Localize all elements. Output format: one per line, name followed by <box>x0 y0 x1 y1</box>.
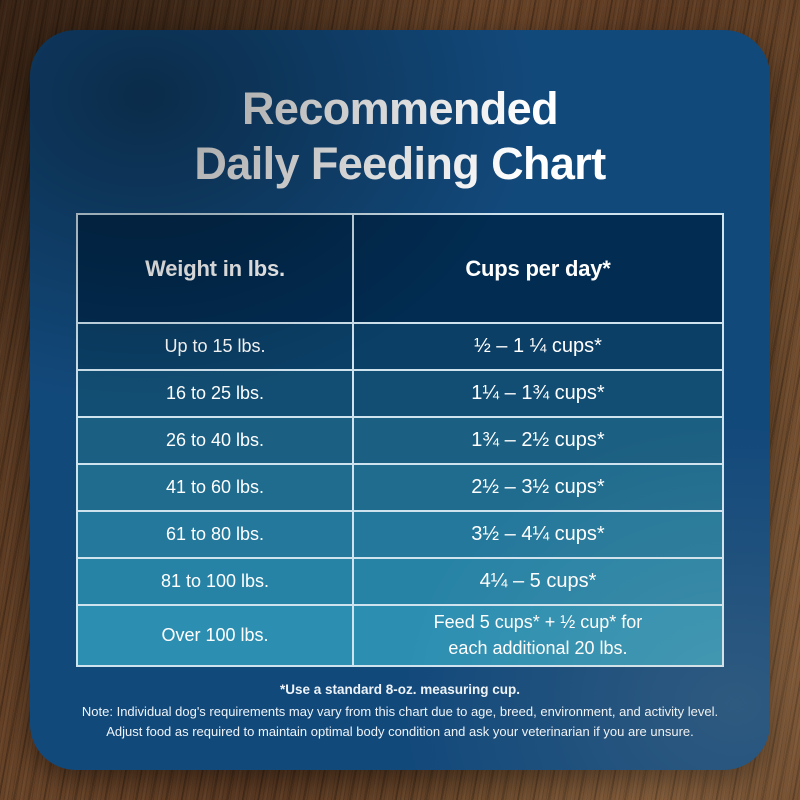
table-row: Over 100 lbs. Feed 5 cups* + ½ cup* for … <box>78 604 722 665</box>
cell-weight: 81 to 100 lbs. <box>78 559 354 604</box>
footnote-note-line-1: Note: Individual dog's requirements may … <box>30 702 770 722</box>
cell-cups: 1¼ – 1¾ cups* <box>354 371 722 416</box>
cell-weight: 41 to 60 lbs. <box>78 465 354 510</box>
cell-weight: 16 to 25 lbs. <box>78 371 354 416</box>
cell-weight: 61 to 80 lbs. <box>78 512 354 557</box>
cell-cups: 2½ – 3½ cups* <box>354 465 722 510</box>
table-header-row: Weight in lbs. Cups per day* <box>78 215 722 322</box>
cell-cups: 4¼ – 5 cups* <box>354 559 722 604</box>
table-row: 41 to 60 lbs. 2½ – 3½ cups* <box>78 463 722 510</box>
column-header-weight: Weight in lbs. <box>78 215 354 322</box>
title-line-2: Daily Feeding Chart <box>30 137 770 192</box>
feeding-table: Weight in lbs. Cups per day* Up to 15 lb… <box>76 213 724 667</box>
page-title: Recommended Daily Feeding Chart <box>30 82 770 192</box>
feeding-chart-card: Recommended Daily Feeding Chart Weight i… <box>30 30 770 770</box>
footnotes: *Use a standard 8-oz. measuring cup. Not… <box>30 682 770 742</box>
cell-weight: Up to 15 lbs. <box>78 324 354 369</box>
column-header-cups: Cups per day* <box>354 215 722 322</box>
cell-cups: ½ – 1 ¼ cups* <box>354 324 722 369</box>
table-row: 16 to 25 lbs. 1¼ – 1¾ cups* <box>78 369 722 416</box>
cell-cups: 3½ – 4¼ cups* <box>354 512 722 557</box>
table-row: 81 to 100 lbs. 4¼ – 5 cups* <box>78 557 722 604</box>
table-row: 61 to 80 lbs. 3½ – 4¼ cups* <box>78 510 722 557</box>
cell-cups-line-1: Feed 5 cups* + ½ cup* for <box>434 610 643 636</box>
title-line-1: Recommended <box>30 82 770 137</box>
footnote-measuring-cup: *Use a standard 8-oz. measuring cup. <box>30 682 770 697</box>
cell-cups: Feed 5 cups* + ½ cup* for each additiona… <box>354 606 722 665</box>
cell-weight: 26 to 40 lbs. <box>78 418 354 463</box>
table-row: Up to 15 lbs. ½ – 1 ¼ cups* <box>78 322 722 369</box>
wood-background: Recommended Daily Feeding Chart Weight i… <box>0 0 800 800</box>
cell-cups-line-2: each additional 20 lbs. <box>434 636 643 662</box>
table-row: 26 to 40 lbs. 1¾ – 2½ cups* <box>78 416 722 463</box>
cell-weight: Over 100 lbs. <box>78 606 354 665</box>
footnote-note-line-2: Adjust food as required to maintain opti… <box>30 722 770 742</box>
cell-cups: 1¾ – 2½ cups* <box>354 418 722 463</box>
